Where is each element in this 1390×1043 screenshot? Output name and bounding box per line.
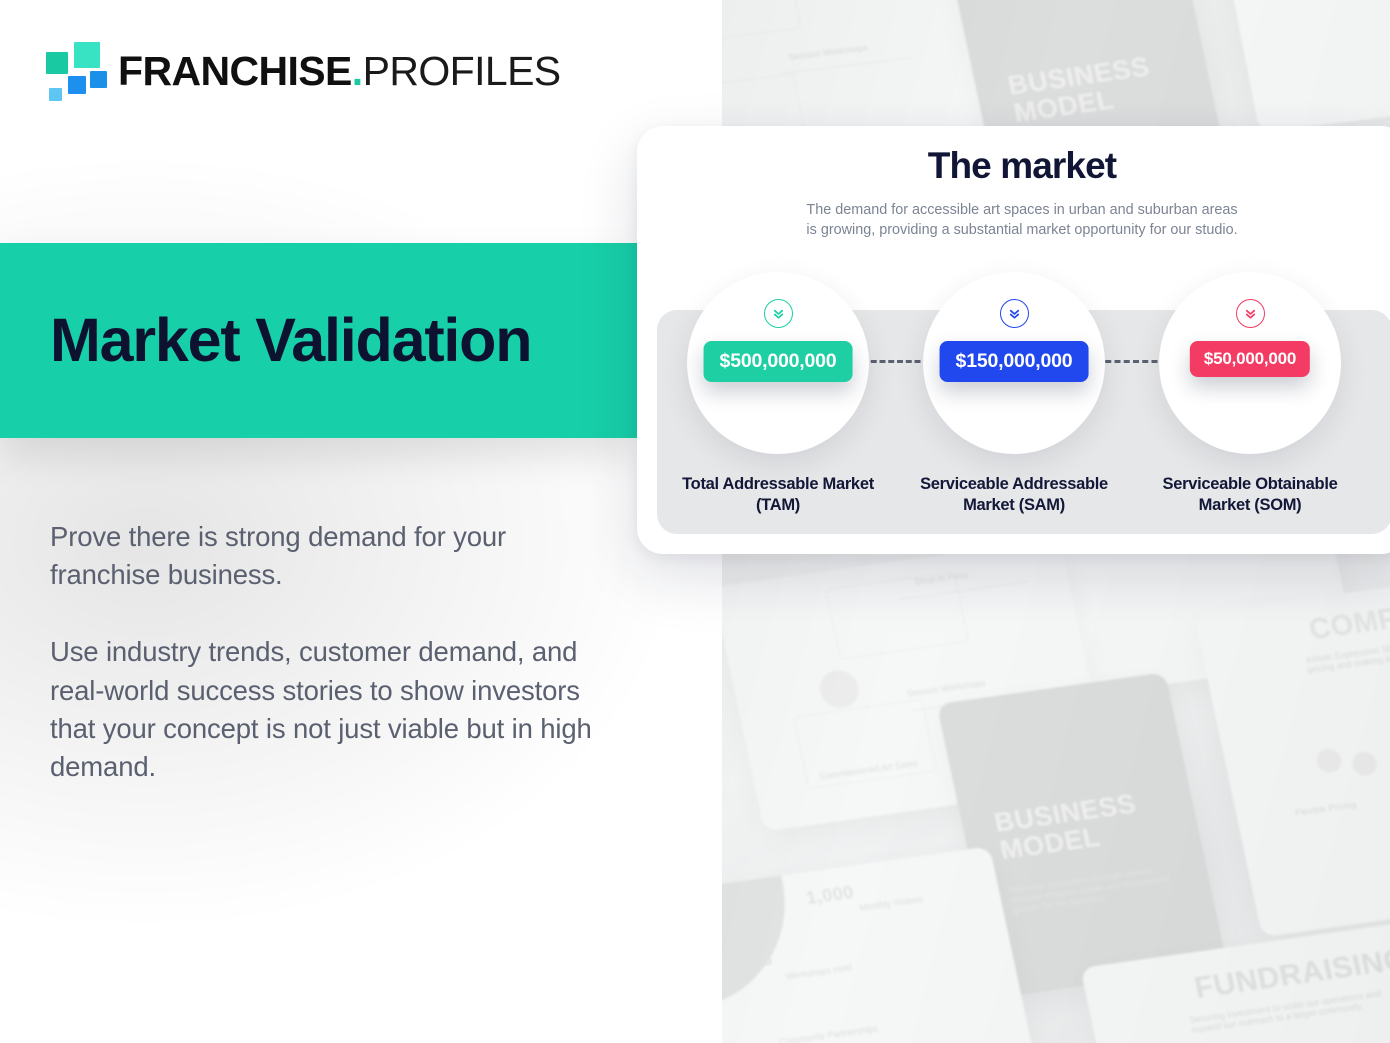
bg-heading: BUSINESS MODEL [1005,51,1166,127]
funnel-stage-tam[interactable]: $500,000,000 Total Addressable Market (T… [678,272,878,516]
market-card: The market The demand for accessible art… [637,126,1390,554]
logo-square-teal-dark [46,52,68,74]
bg-value: 75 [750,950,774,972]
card-subtitle: The demand for accessible art spaces in … [804,201,1240,240]
logo-square-blue-mid [68,76,86,94]
bg-label: Monthly Visitors [859,894,924,913]
funnel-stage-som[interactable]: $50,000,000 Serviceable Obtainable Marke… [1150,272,1350,516]
market-funnel: $500,000,000 Total Addressable Market (T… [637,272,1390,554]
bg-heading: BUSINESS MODEL [992,788,1153,864]
page-title: Market Validation [50,308,531,372]
double-chevron-down-icon[interactable] [1236,299,1265,328]
bg-heading: COMP [1306,602,1390,647]
logo-word-franchise: FRANCHISE [118,51,352,92]
logo-wordmark: FRANCHISE.PROFILES [118,40,561,102]
bg-slide-top-right [1216,0,1390,133]
stage-bubble: $150,000,000 [923,272,1105,454]
body-paragraph-2: Use industry trends, customer demand, an… [50,633,595,786]
bg-label: Session Workshops [788,43,869,63]
stage-amount-badge: $50,000,000 [1190,341,1310,377]
stage-bubble: $500,000,000 [687,272,869,454]
bg-slide-fundraising: FUNDRAISING Securing investment to scale… [1080,918,1390,1043]
logo-squares-icon [46,42,108,98]
bg-slide-competitive: COMP Artistic Expression Studio through … [1194,573,1390,938]
stage-amount-badge: $500,000,000 [704,341,853,382]
double-chevron-down-icon[interactable] [764,299,793,328]
logo-square-blue [90,71,107,88]
brand-logo[interactable]: FRANCHISE.PROFILES [46,40,546,102]
logo-dot: . [352,51,363,92]
funnel-stage-sam[interactable]: $150,000,000 Serviceable Addressable Mar… [914,272,1114,516]
body-copy: Prove there is strong demand for your fr… [50,518,595,786]
body-paragraph-1: Prove there is strong demand for your fr… [50,518,595,594]
stage-amount-badge: $150,000,000 [940,341,1089,382]
bg-value: 1,000 [804,882,856,909]
bg-label: Session Workshops [906,678,987,699]
bg-label: Workshops Held [785,962,852,981]
card-title: The market [637,145,1390,187]
title-banner: Market Validation [0,243,637,438]
bg-label: Drop-In Fees [915,570,969,587]
logo-word-profiles: PROFILES [363,51,561,92]
left-panel: FRANCHISE.PROFILES Market Validation Pro… [0,0,722,1043]
bg-label: Community Partnerships [779,1023,879,1043]
bg-label: Commissioned Art Sales [819,758,918,781]
bg-heading: FUNDRAISING [1192,943,1390,1006]
bg-slide-business-model: BUSINESS MODEL Revenue generation throug… [937,672,1228,998]
stage-bubble: $50,000,000 [1159,272,1341,454]
stage-label: Total Addressable Market (TAM) [678,474,878,516]
bg-label: Flexible Pricing [1294,799,1357,817]
logo-square-blue-light [49,88,62,101]
slide-canvas: Drop-In Fees Session Workshops Commissio… [0,0,1390,1043]
double-chevron-down-icon[interactable] [1000,299,1029,328]
bg-slide-revenue-mid: Drop-In Fees Session Workshops Commissio… [717,538,1112,831]
stage-label: Serviceable Addressable Market (SAM) [914,474,1114,516]
stage-label: Serviceable Obtainable Market (SOM) [1150,474,1350,516]
logo-square-teal-light [74,42,100,68]
bg-slide-traction: 1,000 Monthly Visitors 75 Workshops Held… [717,846,1042,1043]
